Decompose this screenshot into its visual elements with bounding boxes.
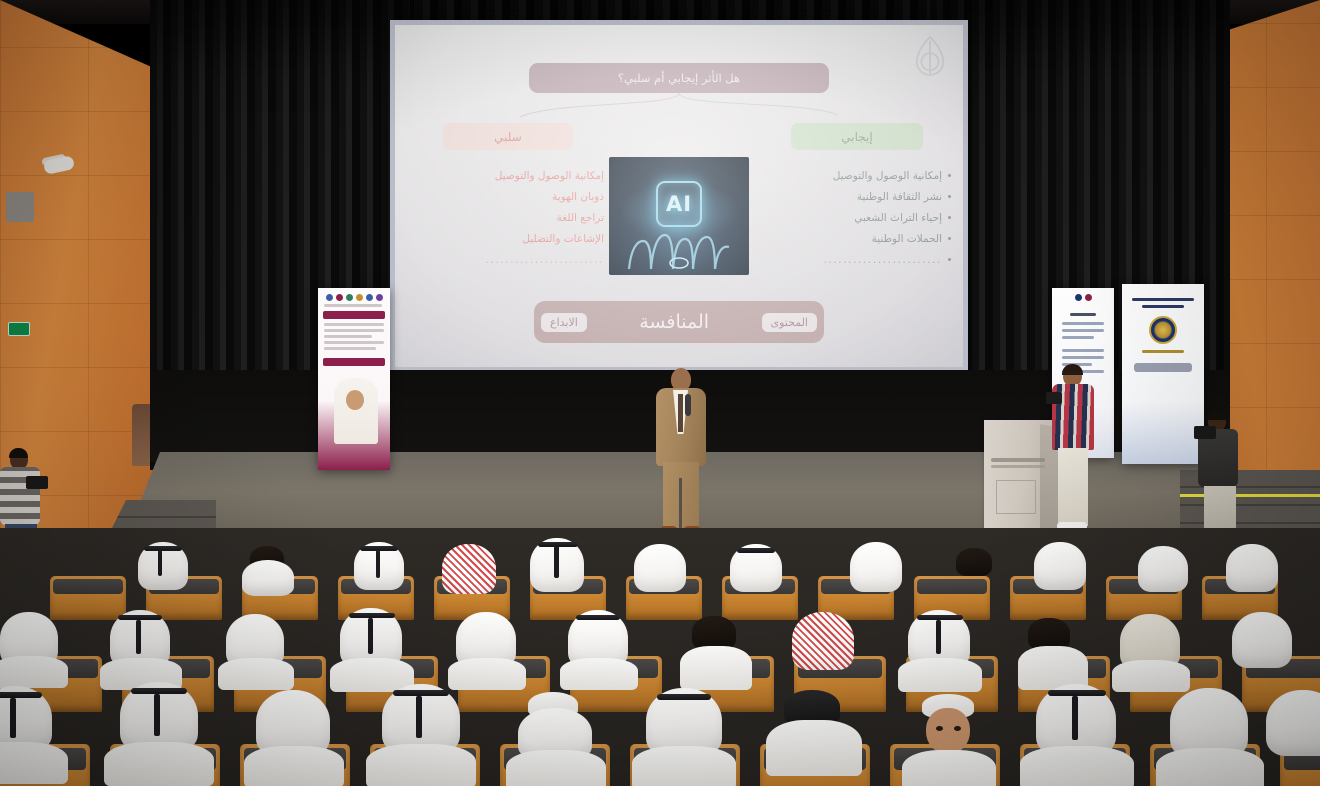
bottom-chip-left: الابداع [541,313,587,332]
banner-person-photo [334,378,378,444]
podium-emblem [996,480,1036,514]
presenter [652,368,710,538]
category-negative-label: سلبي [494,130,522,144]
category-negative-pill: سلبي [443,123,573,150]
bottom-center-label: المنافسة [639,311,709,333]
list-item: إحياء التراث الشعبي [751,207,951,228]
list-item: نشر الثقافة الوطنية [751,186,951,207]
club-crest-icon [1149,316,1177,344]
list-item: ........................ [751,249,951,270]
list-item: ذوبان الهوية [413,186,613,207]
ai-chip-label: AI [666,192,692,216]
bullet-text: الحملات الوطنية [872,233,942,245]
bullet-text: ........................ [485,254,604,266]
list-item: الحملات الوطنية [751,228,951,249]
category-positive-label: إيجابي [841,130,872,144]
podium-label [991,458,1045,468]
audience-member [442,544,496,594]
microphone-icon [685,394,691,416]
banner-youth-sports-club [1122,284,1204,464]
camera-icon [1046,392,1062,404]
photographer-right [1196,410,1242,540]
exit-sign [8,322,30,336]
presentation-slide: هل الأثر إيجابي أم سلبي؟ سلبي إيجابي إمك… [395,25,963,367]
museum-leaf-logo-icon [911,35,949,77]
slide-bottom-bar: الابداع المنافسة المحتوى [534,301,824,343]
slide-question-text: هل الأثر إيجابي أم سلبي؟ [618,71,740,85]
list-item: الإشاعات والتضليل [413,228,613,249]
bullet-text: إمكانية الوصول والتوصيل [833,170,942,182]
audience-member [792,612,854,670]
category-positive-pill: إيجابي [791,123,923,150]
podium [984,420,1056,532]
bottom-chip-right: المحتوى [762,313,817,332]
projection-screen: هل الأثر إيجابي أم سلبي؟ سلبي إيجابي إمك… [390,20,968,372]
bullet-text: تراجع اللغة [557,212,604,224]
ai-illustration-image: AI [609,157,749,275]
negative-bullet-list: إمكانية الوصول والتوصيل ذوبان الهوية ترا… [413,165,613,270]
bullet-text: ذوبان الهوية [552,191,604,203]
connector-branch [514,93,844,119]
list-item: ........................ [413,249,613,270]
banner-logo-strip [318,288,390,301]
list-item: تراجع اللغة [413,207,613,228]
bullet-text: إحياء التراث الشعبي [854,212,942,224]
list-item: إمكانية الوصول والتوصيل [751,165,951,186]
hands-icon [623,223,735,269]
list-item: إمكانية الوصول والتوصيل [413,165,613,186]
audience-area [0,528,1320,786]
ai-chip-icon: AI [656,181,702,227]
positive-bullet-list: إمكانية الوصول والتوصيل نشر الثقافة الوط… [751,165,951,270]
auditorium-scene: هل الأثر إيجابي أم سلبي؟ سلبي إيجابي إمك… [0,0,1320,786]
bullet-text: نشر الثقافة الوطنية [857,191,942,203]
bullet-text: إمكانية الوصول والتوصيل [495,170,604,182]
volunteer-at-podium [1050,366,1098,538]
banner-calligraphy [1134,363,1192,372]
bullet-text: الإشاعات والتضليل [522,233,604,245]
banner-social-awareness [318,288,390,470]
bullet-text: ........................ [823,254,942,266]
wall-speaker [6,192,34,222]
slide-question-pill: هل الأثر إيجابي أم سلبي؟ [529,63,829,93]
